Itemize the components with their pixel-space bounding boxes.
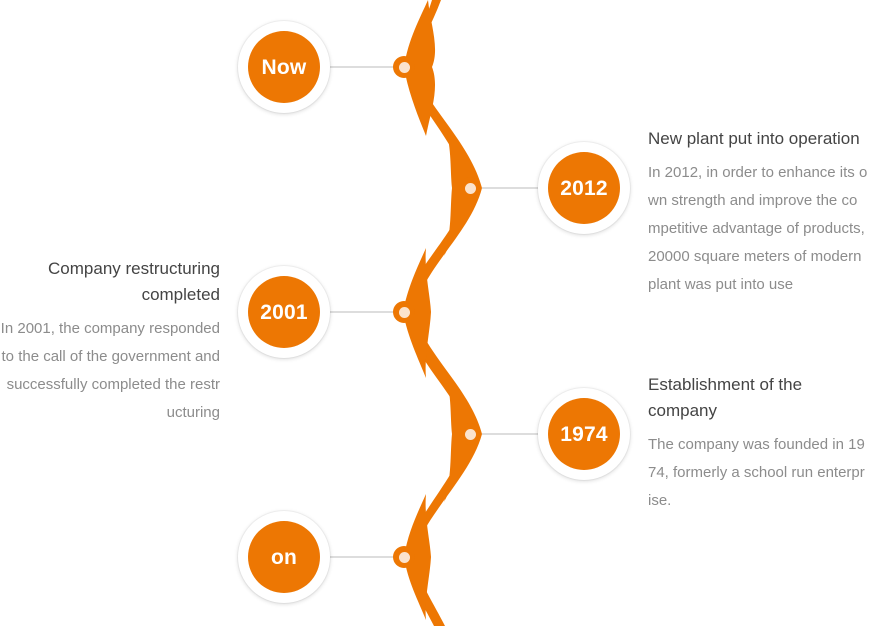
spine-node-dot: [399, 552, 410, 563]
timeline-bubble-on[interactable]: on: [238, 511, 330, 603]
entry-title: Establishment of the company: [648, 372, 868, 424]
timeline-bubble-1974[interactable]: 1974: [538, 388, 630, 480]
timeline-entry-1974: Establishment of the company The company…: [648, 372, 868, 515]
bubble-label: 1974: [560, 424, 608, 445]
timeline-bubble-now[interactable]: Now: [238, 21, 330, 113]
timeline-bubble-2001[interactable]: 2001: [238, 266, 330, 358]
timeline-bubble-2012[interactable]: 2012: [538, 142, 630, 234]
connector-2012: [482, 187, 538, 189]
connector-1974: [482, 433, 538, 435]
bubble-label: 2001: [260, 302, 308, 323]
entry-description: In 2012, in order to enhance its own str…: [648, 159, 868, 299]
spine-node-2001[interactable]: [393, 301, 415, 323]
spine-node-2012[interactable]: [459, 177, 481, 199]
entry-title: Company restructuring completed: [0, 256, 220, 308]
bubble-disc: on: [248, 521, 320, 593]
timeline-root: Now 2012 2001 1974 on New plant put into…: [0, 0, 888, 626]
bubble-label: Now: [262, 57, 307, 78]
bubble-label: 2012: [560, 178, 608, 199]
spine-node-dot: [399, 307, 410, 318]
entry-description: The company was founded in 1974, formerl…: [648, 431, 868, 515]
bubble-disc: Now: [248, 31, 320, 103]
bubble-disc: 2001: [248, 276, 320, 348]
connector-2001: [330, 311, 394, 313]
spine-node-on[interactable]: [393, 546, 415, 568]
entry-description: In 2001, the company responded to the ca…: [0, 315, 220, 427]
timeline-entry-2012: New plant put into operation In 2012, in…: [648, 126, 868, 299]
bubble-label: on: [271, 547, 297, 568]
bubble-disc: 1974: [548, 398, 620, 470]
entry-title: New plant put into operation: [648, 126, 868, 152]
timeline-entry-2001: Company restructuring completed In 2001,…: [0, 256, 220, 427]
spine-node-dot: [465, 183, 476, 194]
spine-node-dot: [399, 62, 410, 73]
spine-node-dot: [465, 429, 476, 440]
spine-node-now[interactable]: [393, 56, 415, 78]
connector-on: [330, 556, 396, 558]
spine-node-1974[interactable]: [459, 423, 481, 445]
bubble-disc: 2012: [548, 152, 620, 224]
connector-now: [330, 66, 396, 68]
